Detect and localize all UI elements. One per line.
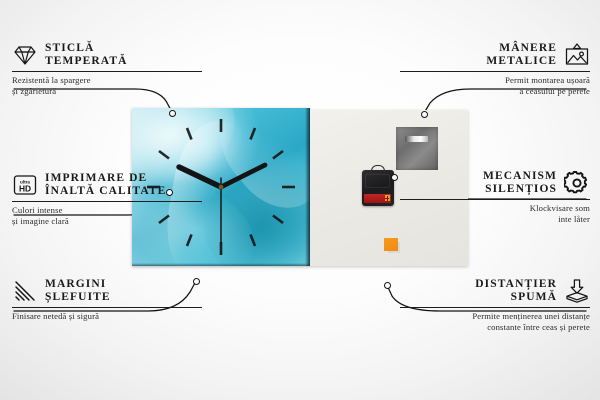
feature-polished-edges: MARGINI ȘLEFUITE Finisare netedă și sigu… <box>12 278 202 322</box>
feature-title: DISTANȚIER SPUMĂ <box>475 278 557 304</box>
divider <box>400 199 590 200</box>
divider <box>12 307 202 308</box>
divider <box>12 201 202 202</box>
divider <box>12 71 202 72</box>
feature-metal-handles: MÂNERE METALICE Permit montarea ușoară a… <box>400 42 590 96</box>
feature-high-quality-print: ultra HD IMPRIMARE DE ÎNALTĂ CALITATE Cu… <box>12 172 202 226</box>
connector-dot-spacer <box>384 282 391 289</box>
feature-title: MECANISM SILENȚIOS <box>483 170 557 196</box>
feature-header: MECANISM SILENȚIOS <box>400 170 590 196</box>
feature-subtitle: Culori intense și imagine clară <box>12 205 202 226</box>
connector-dot-glass <box>169 110 176 117</box>
infographic-canvas: STICLĂ TEMPERATĂ Rezistentă la spargere … <box>0 0 600 400</box>
feature-title: MÂNERE METALICE <box>486 42 557 68</box>
feature-header: STICLĂ TEMPERATĂ <box>12 42 202 68</box>
diamond-icon <box>12 42 38 68</box>
clock-movement-mechanism <box>362 170 394 206</box>
feature-silent-movement: MECANISM SILENȚIOS Klockvisare som inte … <box>400 170 590 224</box>
feature-title: STICLĂ TEMPERATĂ <box>45 42 128 68</box>
feature-foam-spacer: DISTANȚIER SPUMĂ Permite menținerea unei… <box>400 278 590 332</box>
picture-frame-hook-icon <box>564 42 590 68</box>
divider <box>400 307 590 308</box>
feature-subtitle: Permite menținerea unei distanțe constan… <box>400 311 590 332</box>
divider <box>400 71 590 72</box>
feature-subtitle: Rezistentă la spargere și zgârietură <box>12 75 202 96</box>
feature-tempered-glass: STICLĂ TEMPERATĂ Rezistentă la spargere … <box>12 42 202 96</box>
polished-edges-icon <box>12 278 38 304</box>
svg-text:HD: HD <box>19 183 31 193</box>
ultra-hd-icon: ultra HD <box>12 172 38 198</box>
feature-title: IMPRIMARE DE ÎNALTĂ CALITATE <box>45 172 166 198</box>
metal-hanger-plate <box>396 127 438 170</box>
connector-dot-handles <box>421 111 428 118</box>
feature-subtitle: Klockvisare som inte låter <box>400 203 590 224</box>
feature-subtitle: Permit montarea ușoară a ceasului pe per… <box>400 75 590 96</box>
feature-header: ultra HD IMPRIMARE DE ÎNALTĂ CALITATE <box>12 172 202 198</box>
connector-dot-movement <box>391 174 398 181</box>
foam-spacer-arrow-icon <box>564 278 590 304</box>
feature-subtitle: Finisare netedă și sigură <box>12 311 202 322</box>
gear-icon <box>564 170 590 196</box>
feature-header: MÂNERE METALICE <box>400 42 590 68</box>
feature-header: DISTANȚIER SPUMĂ <box>400 278 590 304</box>
feature-title: MARGINI ȘLEFUITE <box>45 278 111 304</box>
foam-spacer-pad <box>384 238 398 251</box>
feature-header: MARGINI ȘLEFUITE <box>12 278 202 304</box>
